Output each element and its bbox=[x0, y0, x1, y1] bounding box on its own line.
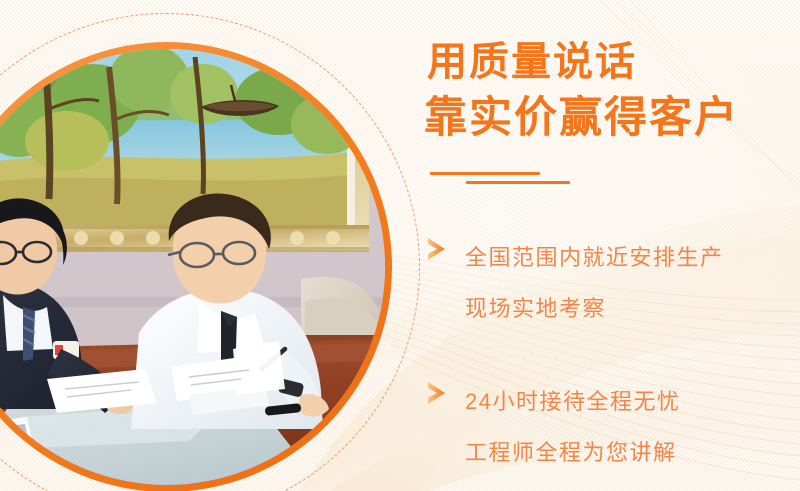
chevron-right-icon bbox=[426, 381, 447, 405]
list-item-line-2: 现场实地考察 bbox=[465, 283, 800, 334]
divider-rule-top bbox=[430, 172, 540, 175]
photo-image bbox=[0, 49, 385, 485]
photo-frame bbox=[0, 42, 392, 491]
divider bbox=[424, 172, 624, 194]
headline-line-1: 用质量说话 bbox=[427, 42, 800, 82]
feature-list: 全国范围内就近安排生产 现场实地考察 24小时接待全程无忧 工程师全程为您讲解 bbox=[424, 232, 800, 491]
headline-line-2: 靠实价赢得客户 bbox=[424, 97, 800, 140]
list-item-line-1: 24小时接待全程无忧 bbox=[465, 376, 800, 427]
list-item: 全国范围内就近安排生产 现场实地考察 bbox=[424, 232, 800, 334]
content-column: 用质量说话 靠实价赢得客户 全国范围内就 bbox=[424, 0, 800, 491]
headline: 用质量说话 靠实价赢得客户 bbox=[424, 42, 800, 140]
chevron-right-icon bbox=[426, 237, 447, 261]
promo-banner: 用质量说话 靠实价赢得客户 全国范围内就 bbox=[0, 0, 800, 491]
list-item-line-1: 全国范围内就近安排生产 bbox=[465, 232, 800, 283]
list-item: 24小时接待全程无忧 工程师全程为您讲解 bbox=[424, 376, 800, 478]
list-item-line-2: 工程师全程为您讲解 bbox=[465, 427, 800, 478]
divider-rule-bottom bbox=[466, 181, 570, 184]
